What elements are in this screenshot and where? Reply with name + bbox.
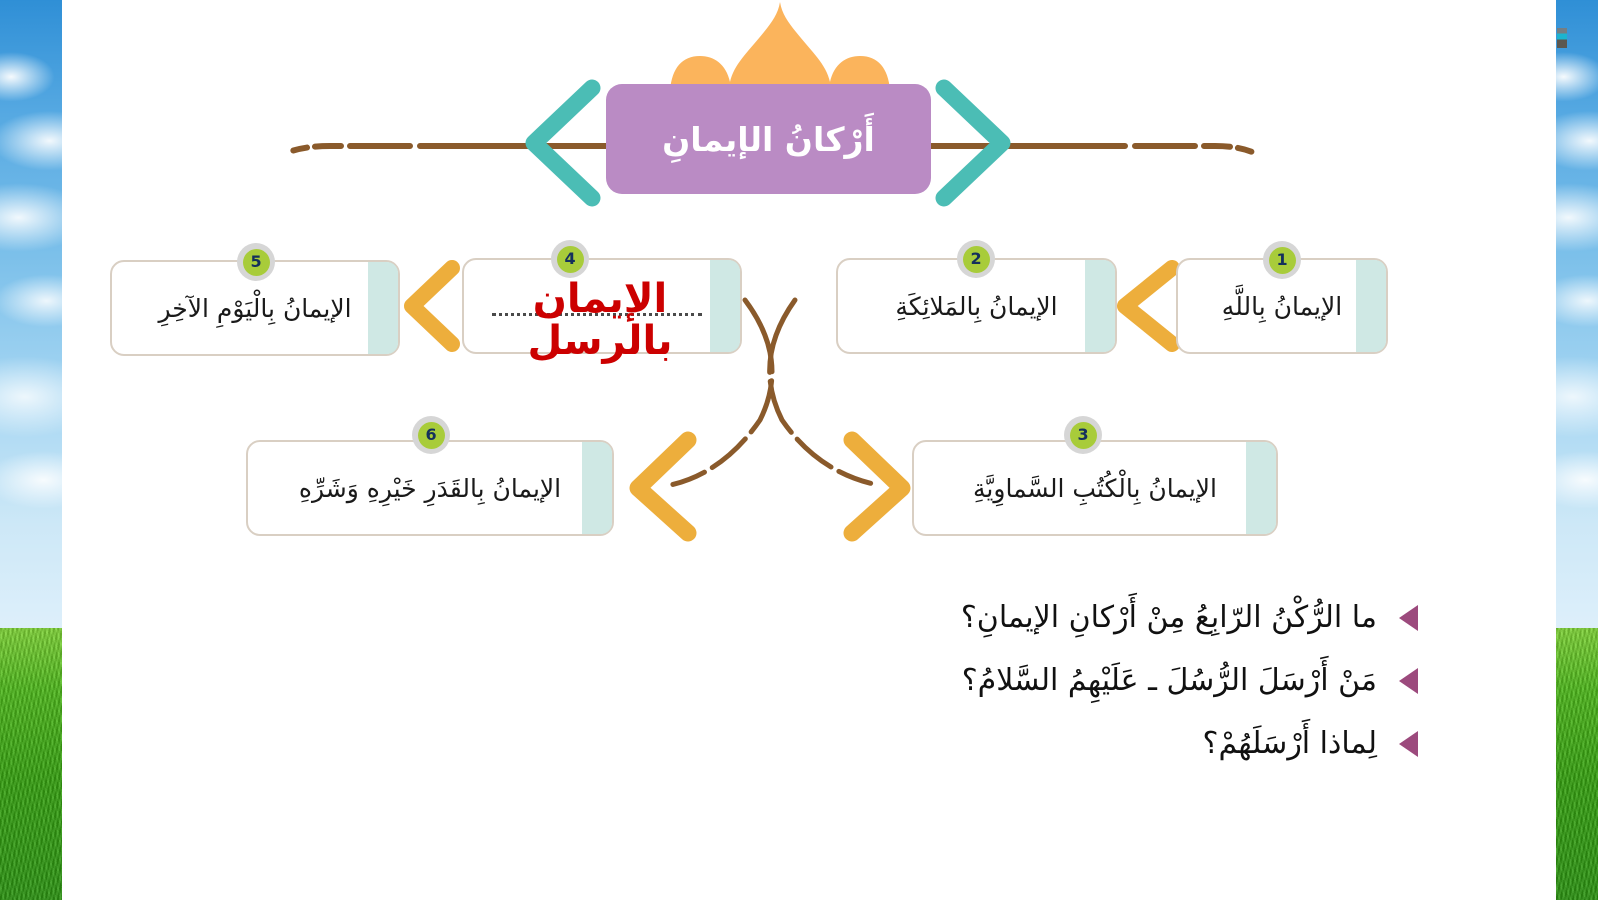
triangle-bullet-icon: [1399, 668, 1418, 694]
question-item: لِماذا أَرْسَلَهُمْ؟: [778, 726, 1418, 761]
pillar-label: الإيمانُ بِاللَّهِ: [1208, 292, 1356, 321]
card-accent-strip: [1356, 260, 1386, 352]
title-box: أَرْكانُ الإيمانِ: [606, 84, 931, 194]
card-accent-strip: [1085, 260, 1115, 352]
title-group: أَرْكانُ الإيمانِ: [530, 0, 1030, 215]
pillar-card-6[interactable]: الإيمانُ بِالقَدَرِ خَيْرِهِ وَشَرِّهِ: [246, 440, 614, 536]
grass-image: [1556, 628, 1598, 900]
pillar-label: الإيمانُ بِالقَدَرِ خَيْرِهِ وَشَرِّهِ: [285, 474, 575, 503]
card-accent-strip: [582, 442, 612, 534]
question-text: ما الرُّكْنُ الرّابِعُ مِنْ أَرْكانِ الإ…: [961, 600, 1377, 635]
pillar-number: 6: [418, 422, 445, 449]
triangle-bullet-icon: [1399, 731, 1418, 757]
edge-artifact-icon: [1557, 28, 1567, 48]
grass-image: [0, 628, 62, 900]
questions-list: ما الرُّكْنُ الرّابِعُ مِنْ أَرْكانِ الإ…: [778, 600, 1418, 789]
pillar-label: الإيمانُ بِالمَلائِكَةِ: [881, 292, 1071, 321]
pillar-badge-5: 5: [237, 243, 275, 281]
question-text: مَنْ أَرْسَلَ الرُّسُلَ ـ عَلَيْهِمُ الس…: [962, 663, 1377, 698]
pillar-label: الإيمانُ بِالْكُتُبِ السَّماوِيَّةِ: [959, 474, 1231, 503]
question-item: مَنْ أَرْسَلَ الرُّسُلَ ـ عَلَيْهِمُ الس…: [778, 663, 1418, 698]
pillar-badge-3: 3: [1064, 416, 1102, 454]
sky-image: [0, 0, 62, 640]
card-accent-strip: [710, 260, 740, 352]
pillar-number: 2: [963, 246, 990, 273]
background-right-strip: [1556, 0, 1598, 900]
pillar-number: 3: [1070, 422, 1097, 449]
sky-image: [1556, 0, 1598, 640]
card-accent-strip: [1246, 442, 1276, 534]
pillar-number: 5: [243, 249, 270, 276]
pillar-badge-4: 4: [551, 240, 589, 278]
pillar-number: 4: [557, 246, 584, 273]
pillar-number: 1: [1269, 247, 1296, 274]
pillar-badge-2: 2: [957, 240, 995, 278]
page-title: أَرْكانُ الإيمانِ: [662, 120, 875, 159]
background-left-strip: [0, 0, 62, 900]
pillar-badge-6: 6: [412, 416, 450, 454]
card-accent-strip: [368, 262, 398, 354]
slide-canvas: أَرْكانُ الإيمانِ الإيمانُ بِاللَّهِ 1 ا…: [0, 0, 1598, 900]
question-item: ما الرُّكْنُ الرّابِعُ مِنْ أَرْكانِ الإ…: [778, 600, 1418, 635]
pillar-label: الإيمانُ بِالْيَوْمِ الآخِرِ: [144, 294, 365, 323]
pillar-badge-1: 1: [1263, 241, 1301, 279]
triangle-bullet-icon: [1399, 605, 1418, 631]
question-text: لِماذا أَرْسَلَهُمْ؟: [1203, 726, 1377, 761]
pillar-card-3[interactable]: الإيمانُ بِالْكُتُبِ السَّماوِيَّةِ: [912, 440, 1278, 536]
pillar-4-answer-text: الإيمان بالرسل: [490, 278, 710, 362]
